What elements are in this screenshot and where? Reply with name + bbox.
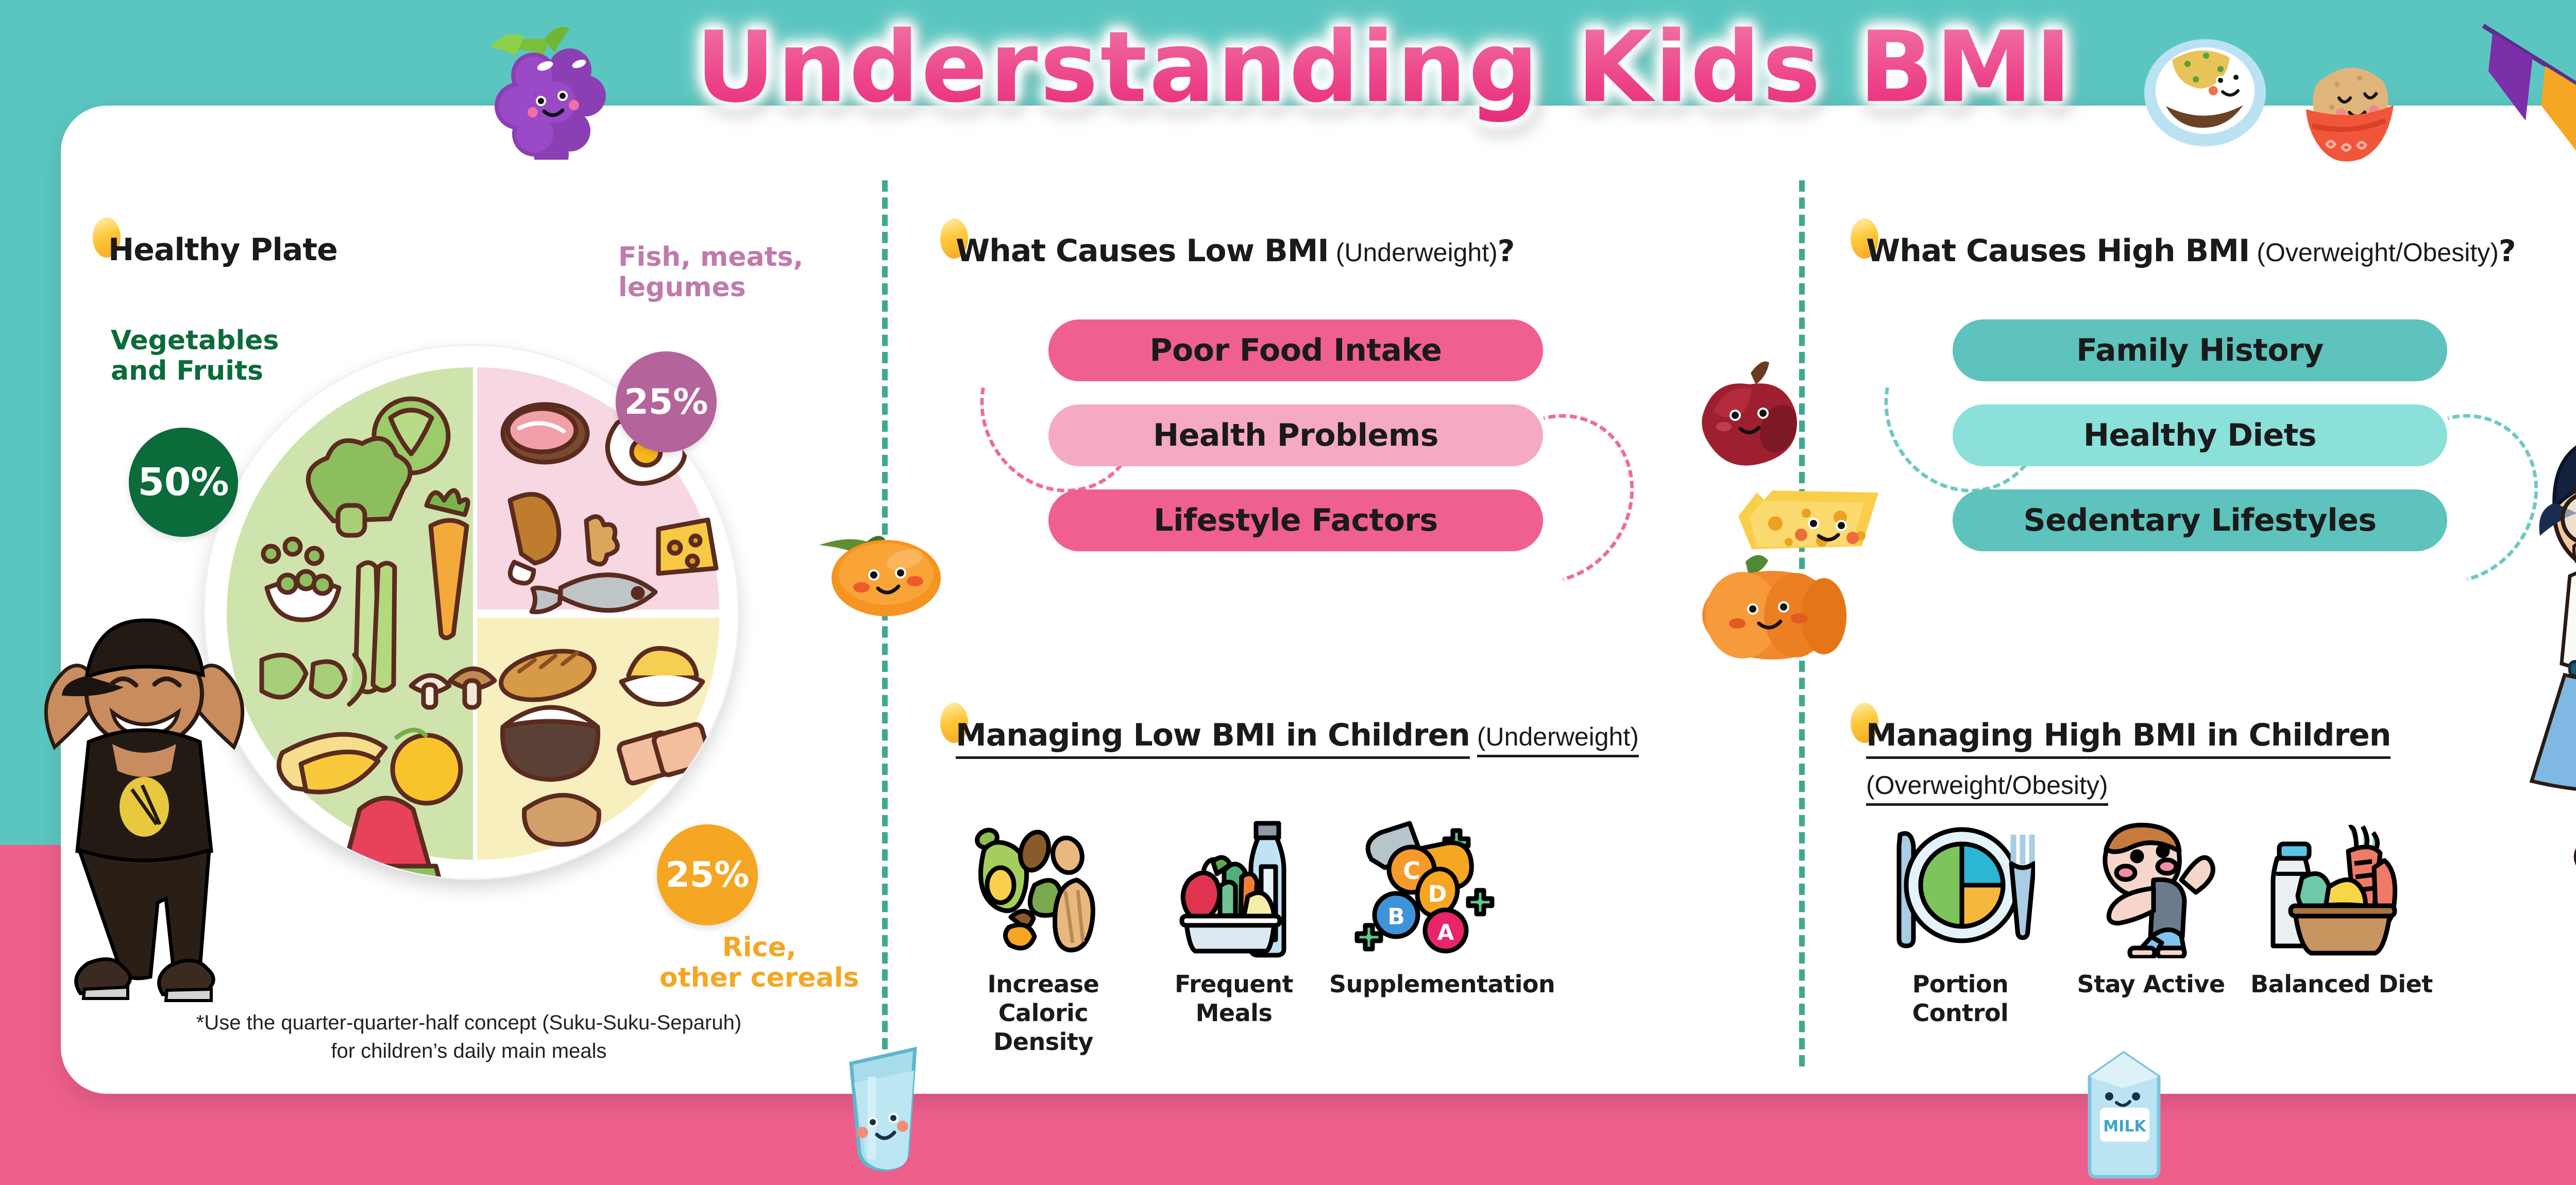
manage-item-frequent-meals: Frequent Meals [1139, 809, 1329, 1056]
badge-vegetables-percent: 50% [129, 428, 238, 537]
manage-item-label: Increase Caloric Density [948, 970, 1139, 1056]
managing-low-bmi-items: Increase Caloric Density [948, 809, 1520, 1056]
badge-protein-value: 25% [624, 382, 708, 422]
cause-pill-health-problems[interactable]: Health Problems [1048, 404, 1543, 466]
low-bmi-heading-main: What Causes Low BMI [956, 233, 1329, 269]
label-vegetables: Vegetables and Fruits [111, 326, 279, 387]
cause-pill-sedentary-lifestyles[interactable]: Sedentary Lifestyles [1953, 489, 2447, 551]
manage-item-label: Stay Active [2056, 970, 2246, 998]
child-exercising-icon [2056, 809, 2246, 958]
managing-high-bmi-heading-main: Managing High BMI in Children [1866, 717, 2391, 759]
badge-vegetables-value: 50% [138, 460, 229, 504]
svg-text:A: A [1437, 920, 1454, 945]
label-vegetables-line1: Vegetables [111, 326, 279, 356]
manage-item-supplementation: C D B A Supplementation [1329, 809, 1520, 1056]
manage-item-balanced-diet: Balanced Diet [2246, 809, 2437, 1027]
label-protein-line2: legumes [618, 273, 803, 303]
boy-character [26, 592, 263, 1043]
managing-high-bmi-items: Portion Control [1865, 809, 2437, 1027]
fruit-bowl-bottle-icon [1139, 809, 1329, 958]
manage-item-label: Balanced Diet [2246, 970, 2437, 998]
managing-low-bmi-heading-sub: (Underweight) [1477, 722, 1639, 757]
manage-item-portion-control: Portion Control [1865, 809, 2056, 1027]
cause-pill-poor-food-intake[interactable]: Poor Food Intake [1048, 319, 1543, 381]
svg-text:B: B [1387, 904, 1405, 930]
label-cereals-line1: Rice, [659, 933, 859, 963]
low-bmi-causes-list: Poor Food Intake Health Problems Lifesty… [1048, 319, 1543, 574]
manage-item-stay-active: Stay Active [2056, 809, 2246, 1027]
cause-pill-label: Lifestyle Factors [1154, 502, 1437, 538]
cause-pill-healthy-diets[interactable]: Healthy Diets [1953, 404, 2447, 466]
avocado-nuts-icon [948, 809, 1139, 958]
grocery-basket-icon [2246, 809, 2437, 958]
cause-pill-label: Healthy Diets [2083, 417, 2316, 453]
svg-text:C: C [1403, 857, 1420, 885]
badge-cereal-percent: 25% [657, 824, 758, 925]
managing-low-bmi-heading-main: Managing Low BMI in Children [956, 717, 1470, 759]
cause-pill-label: Family History [2076, 332, 2324, 368]
high-bmi-heading-question: ? [2499, 233, 2516, 268]
high-bmi-causes-heading: What Causes High BMI (Overweight/Obesity… [1866, 233, 2516, 269]
cause-pill-label: Health Problems [1153, 417, 1438, 453]
manage-item-label: Supplementation [1329, 970, 1520, 998]
label-cereals: Rice, other cereals [659, 933, 859, 994]
managing-low-bmi-heading: Managing Low BMI in Children (Underweigh… [956, 717, 1639, 759]
svg-text:D: D [1428, 881, 1447, 907]
cause-pill-lifestyle-factors[interactable]: Lifestyle Factors [1048, 489, 1543, 551]
badge-protein-percent: 25% [616, 351, 717, 452]
cause-pill-label: Sedentary Lifestyles [2023, 502, 2376, 538]
plate-cutlery-icon [1865, 809, 2056, 958]
low-bmi-causes-heading: What Causes Low BMI (Underweight) ? [956, 233, 1515, 269]
column-divider-right [1799, 180, 1805, 1066]
cause-pill-label: Poor Food Intake [1150, 332, 1442, 368]
badge-cereal-value: 25% [666, 855, 750, 895]
high-bmi-causes-list: Family History Healthy Diets Sedentary L… [1953, 319, 2447, 574]
low-bmi-heading-sub: (Underweight) [1336, 238, 1498, 267]
managing-high-bmi-heading-sub: (Overweight/Obesity) [1866, 770, 2108, 806]
label-cereals-line2: other cereals [659, 963, 859, 993]
manage-item-increase-caloric-density: Increase Caloric Density [948, 809, 1139, 1056]
manage-item-label: Portion Control [1865, 970, 2056, 1027]
column-divider-left [882, 180, 888, 1066]
cause-pill-family-history[interactable]: Family History [1953, 319, 2447, 381]
high-bmi-heading-main: What Causes High BMI [1866, 233, 2249, 269]
healthy-plate-heading-text: Healthy Plate [108, 232, 337, 268]
label-protein-line1: Fish, meats, [618, 242, 803, 273]
manage-item-label: Frequent Meals [1139, 970, 1329, 1027]
label-vegetables-line2: and Fruits [111, 356, 279, 386]
vitamin-pills-icon: C D B A [1329, 809, 1520, 958]
managing-high-bmi-heading: Managing High BMI in Children (Overweigh… [1866, 717, 2391, 806]
high-bmi-heading-sub: (Overweight/Obesity) [2257, 238, 2499, 267]
girl-character [2524, 412, 2576, 930]
low-bmi-heading-question: ? [1498, 233, 1515, 268]
label-protein: Fish, meats, legumes [618, 242, 803, 303]
healthy-plate-heading: Healthy Plate [108, 232, 337, 268]
